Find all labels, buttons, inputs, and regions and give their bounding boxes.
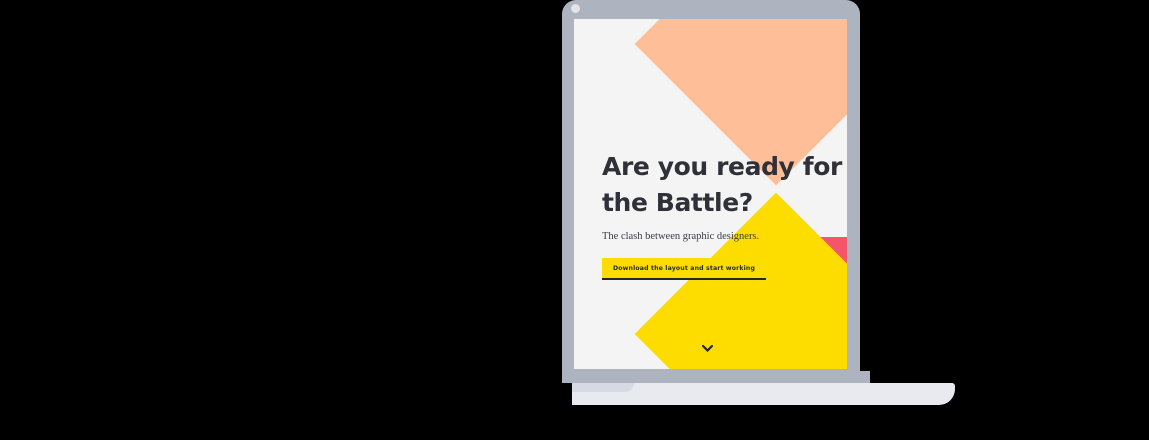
page-title: Are you ready for the Battle?: [602, 149, 847, 222]
laptop-base-notch: [572, 383, 634, 392]
chevron-down-icon[interactable]: [700, 341, 714, 355]
hero-subtitle: The clash between graphic designers.: [602, 231, 847, 244]
webcam-dot-icon: [571, 4, 580, 13]
hero-section: Are you ready for the Battle? The clash …: [602, 149, 847, 280]
browser-viewport: Are you ready for the Battle? The clash …: [574, 19, 847, 369]
download-layout-button[interactable]: Download the layout and start working: [602, 258, 766, 280]
screenshot-canvas: Are you ready for the Battle? The clash …: [0, 0, 1149, 440]
laptop-lower-bezel: [562, 371, 870, 383]
cta-wrapper: Download the layout and start working: [602, 257, 847, 280]
laptop-mockup: Are you ready for the Battle? The clash …: [0, 0, 1149, 440]
